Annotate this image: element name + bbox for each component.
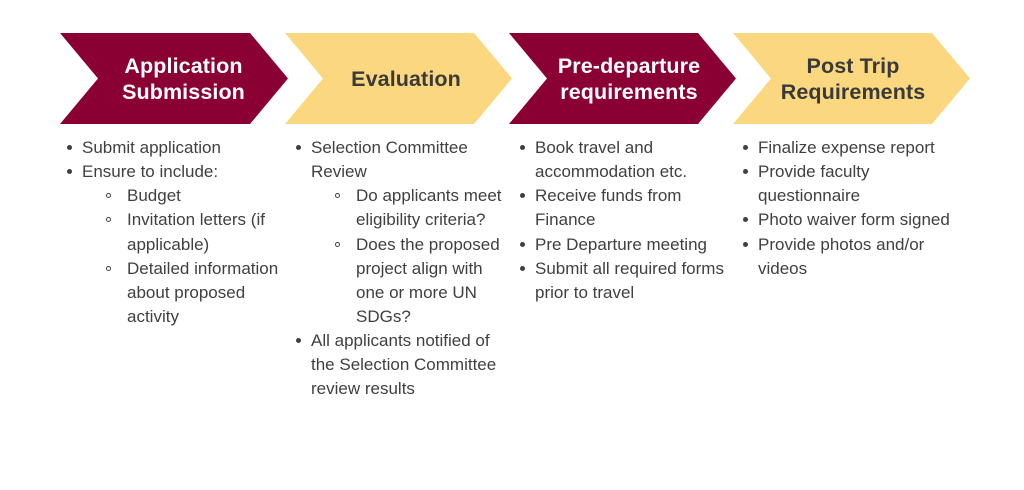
stage-item-list: Submit applicationEnsure to include:Budg… [62,136,292,329]
list-item: Submit all required forms prior to trave… [515,257,731,305]
chevron-label-4[interactable]: Post Trip Requirements [746,33,960,125]
bullet-ring-icon [106,193,111,198]
stage-detail-columns: Submit applicationEnsure to include:Budg… [0,136,1024,490]
chevron-title-line1: Application [122,53,245,79]
list-item-label: Book travel and accommodation etc. [535,136,731,184]
sub-item-list: BudgetInvitation letters (if applicable)… [82,184,292,329]
list-item-label: Finalize expense report [758,136,968,160]
bullet-dot-icon [743,169,748,174]
stage-column-3: Book travel and accommodation etc.Receiv… [515,136,731,305]
bullet-dot-icon [67,145,72,150]
list-item: Submit application [62,136,292,160]
list-item: Provide faculty questionnaire [738,160,968,208]
list-item-label: All applicants notified of the Selection… [311,329,509,401]
list-item: Receive funds from Finance [515,184,731,232]
sub-list-item-label: Budget [127,184,292,208]
sub-list-item-label: Do applicants meet eligibility criteria? [356,184,509,232]
bullet-dot-icon [520,193,525,198]
bullet-dot-icon [743,242,748,247]
bullet-ring-icon [106,217,111,222]
bullet-ring-icon [106,266,111,271]
bullet-dot-icon [743,217,748,222]
bullet-dot-icon [743,145,748,150]
list-item-label: Photo waiver form signed [758,208,968,232]
list-item: Book travel and accommodation etc. [515,136,731,184]
list-item: All applicants notified of the Selection… [291,329,509,401]
list-item: Selection Committee ReviewDo applicants … [291,136,509,329]
chevron-title-line1: Evaluation [351,66,461,92]
bullet-ring-icon [335,242,340,247]
list-item: Pre Departure meeting [515,233,731,257]
chevron-band: Application Submission Evaluation Pre-de… [0,0,1024,140]
list-item-label: Pre Departure meeting [535,233,731,257]
sub-item-list: Do applicants meet eligibility criteria?… [311,184,509,329]
chevron-title-line2: requirements [558,79,700,105]
sub-list-item: Do applicants meet eligibility criteria? [329,184,509,232]
stage-column-4: Finalize expense reportProvide faculty q… [738,136,968,281]
sub-list-item-label: Does the proposed project align with one… [356,233,509,330]
stage-column-2: Selection Committee ReviewDo applicants … [291,136,509,401]
list-item-label: Submit application [82,136,292,160]
list-item: Provide photos and/or videos [738,233,968,281]
bullet-dot-icon [520,242,525,247]
stage-item-list: Book travel and accommodation etc.Receiv… [515,136,731,305]
list-item: Ensure to include:BudgetInvitation lette… [62,160,292,329]
sub-list-item: Budget [100,184,292,208]
stage-item-list: Selection Committee ReviewDo applicants … [291,136,509,401]
sub-list-item-label: Detailed information about proposed acti… [127,257,292,329]
bullet-dot-icon [520,266,525,271]
list-item-label: Receive funds from Finance [535,184,731,232]
list-item-label: Submit all required forms prior to trave… [535,257,731,305]
chevron-title-line2: Requirements [781,79,926,105]
chevron-title-line1: Pre-departure [558,53,700,79]
chevron-title-line2: Submission [122,79,245,105]
sub-list-item: Invitation letters (if applicable) [100,208,292,256]
bullet-ring-icon [335,193,340,198]
process-flow-diagram: Application Submission Evaluation Pre-de… [0,0,1024,490]
sub-list-item: Detailed information about proposed acti… [100,257,292,329]
stage-item-list: Finalize expense reportProvide faculty q… [738,136,968,281]
bullet-dot-icon [296,338,301,343]
list-item-label: Selection Committee Review [311,136,509,184]
bullet-dot-icon [520,145,525,150]
list-item-label: Provide photos and/or videos [758,233,968,281]
chevron-label-2[interactable]: Evaluation [300,33,512,125]
sub-list-item-label: Invitation letters (if applicable) [127,208,292,256]
list-item-label: Ensure to include: [82,160,292,184]
stage-column-1: Submit applicationEnsure to include:Budg… [62,136,292,329]
chevron-label-3[interactable]: Pre-departure requirements [522,33,736,125]
chevron-label-1[interactable]: Application Submission [76,33,291,125]
list-item: Finalize expense report [738,136,968,160]
bullet-dot-icon [67,169,72,174]
bullet-dot-icon [296,145,301,150]
sub-list-item: Does the proposed project align with one… [329,233,509,330]
list-item: Photo waiver form signed [738,208,968,232]
chevron-title-line1: Post Trip [781,53,926,79]
list-item-label: Provide faculty questionnaire [758,160,968,208]
